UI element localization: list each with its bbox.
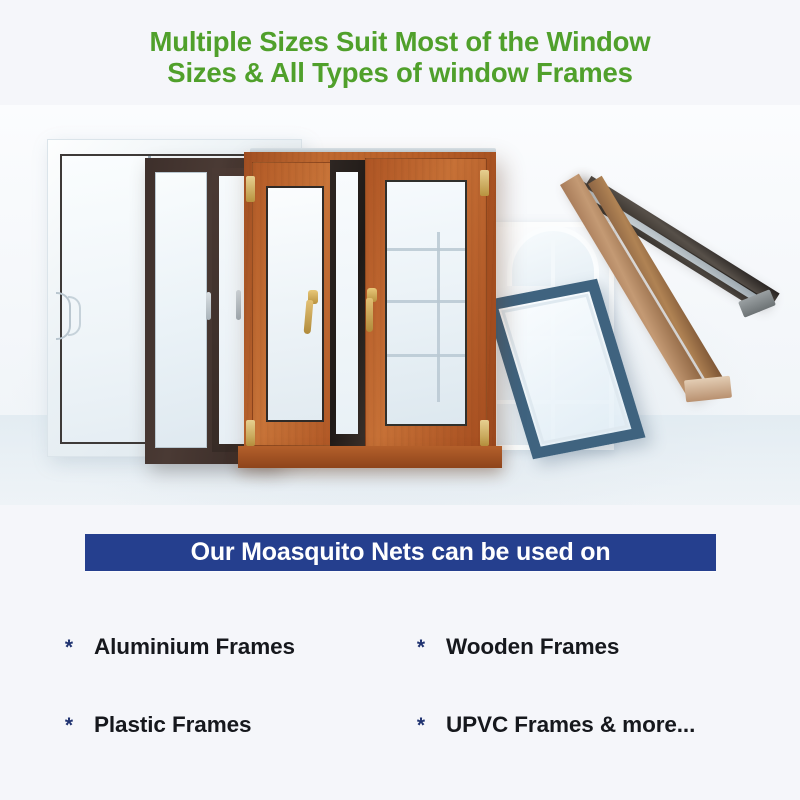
wooden-window-right-handle-icon [366, 298, 373, 332]
asterisk-icon: * [44, 715, 94, 736]
right-glass-mullion-2 [387, 300, 465, 303]
frame-types-list: * Aluminium Frames * Wooden Frames * Pla… [44, 608, 764, 764]
list-item-label: Aluminium Frames [94, 634, 295, 660]
list-item-label: Wooden Frames [446, 634, 619, 660]
page-title-line-1: Multiple Sizes Suit Most of the Window [0, 26, 800, 57]
wooden-window-hinge-top-left [246, 176, 255, 202]
right-glass-mullion-1 [387, 248, 465, 251]
asterisk-icon: * [396, 715, 446, 736]
wooden-window-right-glass [385, 180, 467, 426]
dark-brown-window-handle-icon [206, 292, 211, 320]
list-item-label: Plastic Frames [94, 712, 251, 738]
right-glass-mullion-3 [387, 354, 465, 357]
page-title: Multiple Sizes Suit Most of the Window S… [0, 26, 800, 88]
dark-brown-window-handle-secondary-icon [236, 290, 241, 320]
page-title-line-2: Sizes & All Types of window Frames [0, 57, 800, 88]
usage-banner: Our Moasquito Nets can be used on [85, 534, 716, 571]
list-item-upvc-frames: * UPVC Frames & more... [396, 686, 764, 764]
list-item-plastic-frames: * Plastic Frames [44, 686, 396, 764]
dark-brown-window-glass [155, 172, 207, 448]
list-item-label: UPVC Frames & more... [446, 712, 695, 738]
wooden-window-center-glass [336, 172, 358, 434]
wooden-window-hinge-top-right [480, 170, 489, 196]
right-glass-mullion-vertical [437, 232, 440, 402]
usage-banner-text: Our Moasquito Nets can be used on [191, 540, 611, 565]
list-item-aluminium-frames: * Aluminium Frames [44, 608, 396, 686]
product-banner-page: Multiple Sizes Suit Most of the Window S… [0, 0, 800, 800]
wooden-window-sill [238, 446, 502, 468]
list-item-wooden-frames: * Wooden Frames [396, 608, 764, 686]
wooden-window-hinge-bottom-right [480, 420, 489, 446]
asterisk-icon: * [44, 637, 94, 658]
wooden-window-left-glass [266, 186, 324, 422]
sliding-window-handle-inner-icon [68, 296, 81, 336]
wooden-window-hinge-bottom-left [246, 420, 255, 446]
asterisk-icon: * [396, 637, 446, 658]
